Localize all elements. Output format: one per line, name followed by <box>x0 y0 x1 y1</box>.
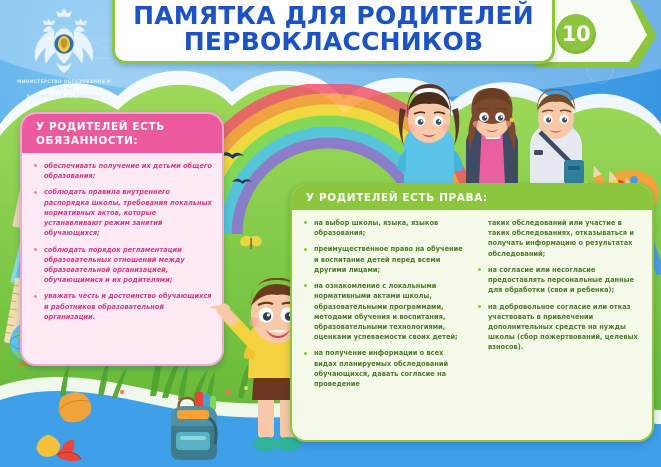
ministry-emblem-block: МИНИСТЕРСТВО ОБРАЗОВАНИЯ И НАУКИ РОССИЙС… <box>14 4 114 102</box>
list-item: на ознакомление с локальными нормативным… <box>304 281 468 342</box>
duties-panel-body: обеспечивать получение их детьми общего … <box>22 153 222 338</box>
school-backpack-icon <box>163 388 225 464</box>
rights-panel: У РОДИТЕЛЕЙ ЕСТЬ ПРАВА: на выбор школы, … <box>290 183 654 442</box>
poster-canvas: ∑ π + ÷ × √ A B <box>0 0 661 467</box>
rights-panel-body: на выбор школы, языка, языков образовани… <box>292 210 652 405</box>
list-item: обеспечивать получение их детьми общего … <box>34 161 212 181</box>
coat-of-arms-icon <box>28 4 100 78</box>
list-item: на согласие или несогласие предоставлять… <box>478 265 642 296</box>
butterfly-icon <box>238 232 264 254</box>
duties-panel-heading: У РОДИТЕЛЕЙ ЕСТЬ ОБЯЗАННОСТИ: <box>22 114 222 153</box>
rights-column-left: на выбор школы, языка, языков образовани… <box>304 218 468 395</box>
chapter-number-badge: 10 <box>556 14 596 54</box>
list-item: преимущественное право на обучение и вос… <box>304 244 468 275</box>
list-item: на выбор школы, языка, языков образовани… <box>304 218 468 238</box>
rights-column-right: таких обследований или участие в таких о… <box>478 218 642 395</box>
rights-list-left: на выбор школы, языка, языков образовани… <box>304 218 468 389</box>
list-item: на добровольное согласие или отказ участ… <box>478 302 642 353</box>
poster-title-box: ПАМЯТКА ДЛЯ РОДИТЕЛЕЙ ПЕРВОКЛАССНИКОВ <box>112 0 555 64</box>
rights-list-right: таких обследований или участие в таких о… <box>478 218 642 353</box>
page-title-line-2: ПЕРВОКЛАССНИКОВ <box>184 29 483 55</box>
list-item: уважать честь и достоинство обучающихся … <box>34 291 212 322</box>
list-item: соблюдать правила внутреннего распорядка… <box>34 187 212 238</box>
list-item: на получение информации о всех видах пла… <box>304 348 468 389</box>
page-title-line-1: ПАМЯТКА ДЛЯ РОДИТЕЛЕЙ <box>133 3 534 29</box>
duties-list: обеспечивать получение их детьми общего … <box>34 161 212 322</box>
emblem-caption-line-1: МИНИСТЕРСТВО ОБРАЗОВАНИЯ И НАУКИ <box>14 80 114 93</box>
autumn-leaves-icon <box>18 396 148 466</box>
rights-panel-heading: У РОДИТЕЛЕЙ ЕСТЬ ПРАВА: <box>292 185 652 210</box>
emblem-caption-line-2: РОССИЙСКОЙ ФЕДЕРАЦИИ <box>14 95 114 102</box>
list-item-continuation: таких обследований или участие в таких о… <box>478 218 642 259</box>
duties-panel: У РОДИТЕЛЕЙ ЕСТЬ ОБЯЗАННОСТИ: обеспечива… <box>20 112 224 366</box>
list-item: соблюдать порядок регламентации образова… <box>34 245 212 286</box>
